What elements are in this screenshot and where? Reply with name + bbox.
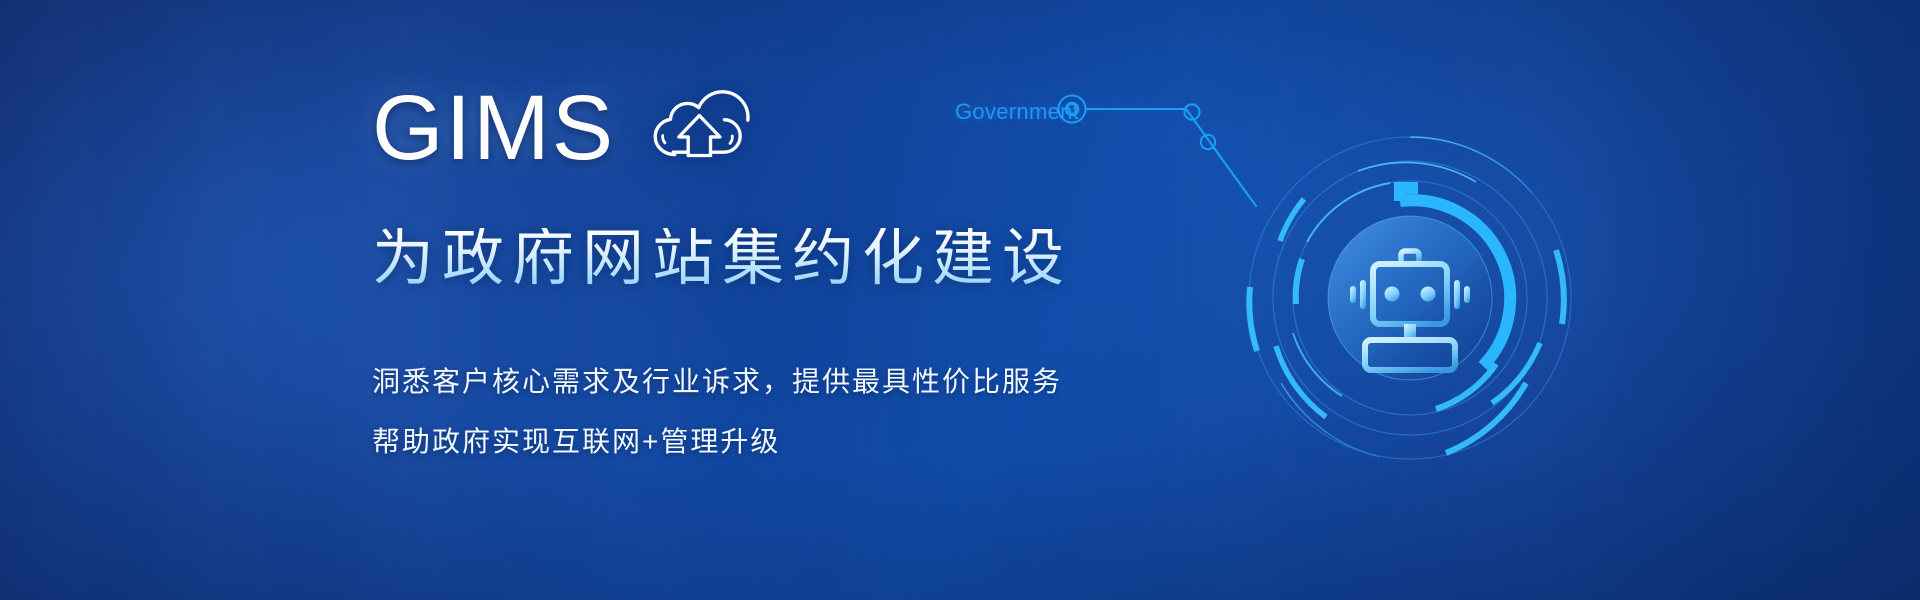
subtitle-line-2: 帮助政府实现互联网+管理升级	[372, 428, 780, 456]
subtitle-line-1: 洞悉客户核心需求及行业诉求，提供最具性价比服务	[372, 368, 1062, 396]
robot-tech-circle-graphic	[1240, 128, 1580, 473]
banner-content: GIMS 为政府网站集约化建设 洞悉客户核心需求及行业诉求，提供最具性价比服务 …	[0, 0, 1920, 600]
brand-row: GIMS	[372, 82, 751, 174]
headline: 为政府网站集约化建设	[372, 228, 1072, 290]
brand-title: GIMS	[372, 82, 615, 174]
gims-hero-banner: GIMS 为政府网站集约化建设 洞悉客户核心需求及行业诉求，提供最具性价比服务 …	[0, 0, 1920, 600]
cloud-upload-icon	[651, 89, 751, 168]
